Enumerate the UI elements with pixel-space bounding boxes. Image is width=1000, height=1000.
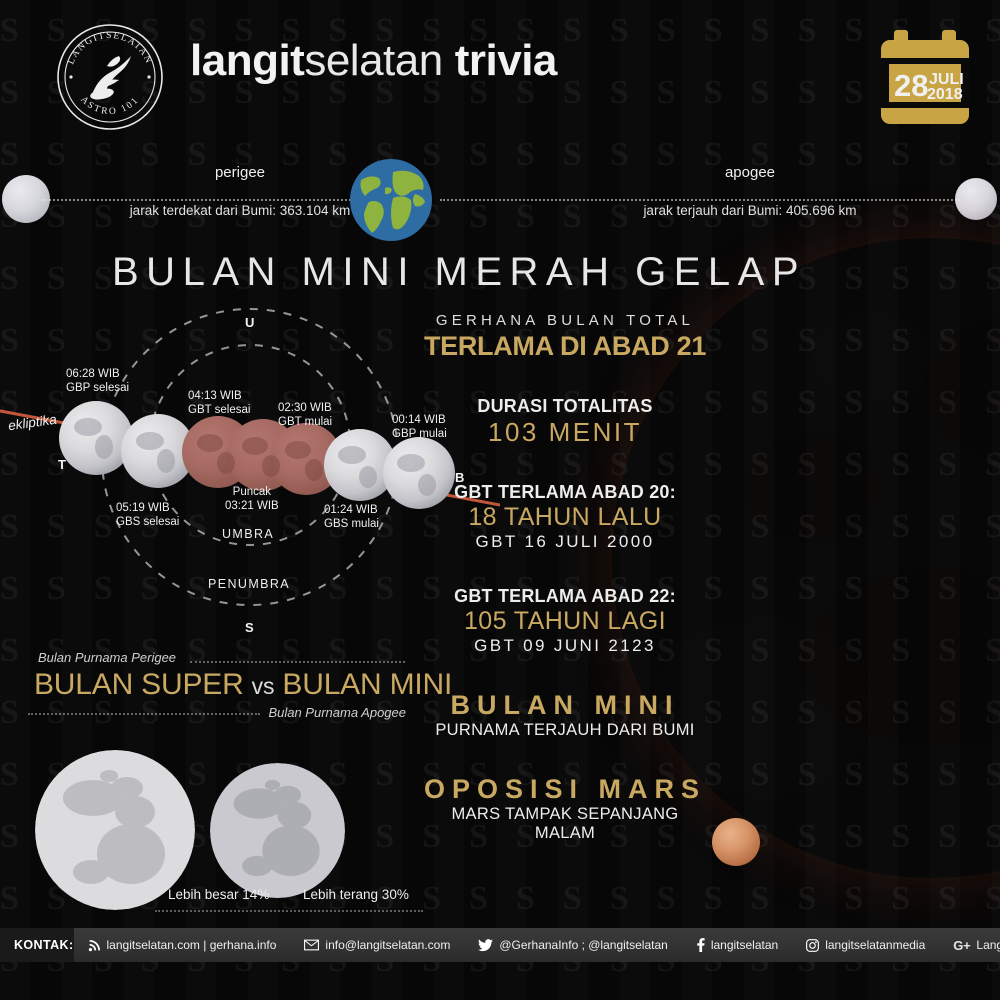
phase-3-time: 04:13 WIB — [188, 389, 250, 403]
footer-item-email[interactable]: info@langitselatan.com — [290, 938, 464, 952]
mars-title: OPOSISI MARS — [420, 774, 710, 805]
phase-4-event: GBT mulai — [278, 415, 332, 429]
svg-text:ASTRO 101: ASTRO 101 — [78, 95, 141, 117]
page-title: BULAN MINI MERAH GELAP — [112, 250, 806, 295]
phase-5-event: GBS mulai — [324, 517, 379, 531]
phase-callout-1: 06:28 WIB GBP selesai — [66, 367, 129, 395]
footer-googleplus-text: LangitselatanMedia — [976, 938, 1000, 952]
century22-value: 105 TAHUN LAGI — [420, 607, 710, 636]
minimoon-sub: PURNAMA TERJAUH DARI BUMI — [420, 721, 710, 740]
footer-email-text: info@langitselatan.com — [325, 938, 450, 952]
phase-5-time: 01:24 WIB — [324, 503, 379, 517]
mars-planet-icon — [712, 818, 760, 866]
century20-label: GBT TERLAMA ABAD 20: — [420, 482, 710, 503]
duration-block: DURASI TOTALITAS 103 MENIT — [420, 396, 710, 448]
supermoon-icon — [35, 750, 195, 910]
googleplus-icon: G+ — [953, 938, 970, 953]
apogee-detail: jarak terjauh dari Bumi: 405.696 km — [560, 203, 940, 218]
umbra-label: UMBRA — [222, 527, 274, 541]
infographic-page: SSSSSSSSSSSSSSSSSSSSSSSSSSSSSSSSSSSSSSSS… — [0, 0, 1000, 1000]
cardinal-east: T — [58, 457, 66, 472]
phase-callout-4: 02:30 WIB GBT mulai — [278, 401, 332, 429]
comparison-title-right: BULAN MINI — [282, 668, 452, 701]
cardinal-north: U — [245, 315, 254, 330]
footer-item-facebook[interactable]: langitselatan — [682, 938, 792, 952]
apogee-title: apogee — [560, 164, 940, 181]
penumbra-label: PENUMBRA — [208, 577, 290, 591]
phase-1-event: GBP selesai — [66, 381, 129, 395]
minimoon-block: BULAN MINI PURNAMA TERJAUH DARI BUMI — [420, 690, 710, 740]
century20-value: 18 TAHUN LALU — [420, 503, 710, 532]
comparison-top-label: Bulan Purnama Perigee — [38, 650, 176, 665]
comparison-title-vs: vs — [252, 673, 275, 699]
peak-callout: Puncak 03:21 WIB — [225, 485, 279, 513]
phase-callout-5: 01:24 WIB GBS mulai — [324, 503, 379, 531]
phase-1-time: 06:28 WIB — [66, 367, 129, 381]
caption-size: Lebih besar 14% — [168, 887, 269, 902]
comparison-caption-dotted-line — [155, 910, 423, 912]
facebook-icon — [696, 938, 705, 952]
apogee-label: apogee jarak terjauh dari Bumi: 405.696 … — [560, 164, 940, 218]
footer-item-instagram[interactable]: langitselatanmedia — [792, 938, 939, 952]
facts-headline: TERLAMA DI ABAD 21 — [420, 331, 710, 362]
phase-2-time: 05:19 WIB — [116, 501, 179, 515]
perigee-title: perigee — [80, 164, 400, 181]
perigee-detail: jarak terdekat dari Bumi: 363.104 km — [80, 203, 400, 218]
footer-kontak-label: KONTAK: — [0, 928, 74, 962]
minimoon-title: BULAN MINI — [420, 690, 710, 721]
phase-4-time: 02:30 WIB — [278, 401, 332, 415]
footer-facebook-text: langitselatan — [711, 938, 778, 952]
instagram-icon — [806, 939, 819, 952]
cardinal-south: S — [245, 620, 254, 635]
comparison-title: BULAN SUPER vs BULAN MINI — [34, 668, 452, 702]
eclipse-moon-1 — [59, 401, 133, 475]
comparison-bottom-dotted-line — [28, 713, 260, 715]
phase-callout-3: 04:13 WIB GBT selesai — [188, 389, 250, 417]
perigee-label: perigee jarak terdekat dari Bumi: 363.10… — [80, 164, 400, 218]
phase-callout-2: 05:19 WIB GBS selesai — [116, 501, 179, 529]
phase-2-event: GBS selesai — [116, 515, 179, 529]
comparison-top-dotted-line — [190, 661, 405, 663]
duration-value: 103 MENIT — [420, 417, 710, 448]
caption-brightness: Lebih terang 30% — [303, 887, 409, 902]
footer-item-googleplus[interactable]: G+ LangitselatanMedia — [939, 938, 1000, 953]
peak-time: 03:21 WIB — [225, 499, 279, 513]
footer-twitter-text: @GerhanaInfo ; @langitselatan — [499, 938, 667, 952]
footer-item-twitter[interactable]: @GerhanaInfo ; @langitselatan — [464, 938, 681, 952]
rss-icon — [88, 939, 101, 952]
facts-column: GERHANA BULAN TOTAL TERLAMA DI ABAD 21 D… — [420, 312, 710, 843]
apogee-moon-icon — [955, 178, 997, 220]
minimoon-icon — [210, 763, 345, 898]
footer-contact-bar: KONTAK: langitselatan.com | gerhana.info… — [0, 928, 1000, 962]
comparison-title-left: BULAN SUPER — [34, 668, 244, 701]
century22-date: GBT 09 JUNI 2123 — [420, 636, 710, 656]
century20-block: GBT TERLAMA ABAD 20: 18 TAHUN LALU GBT 1… — [420, 482, 710, 552]
mars-sub: MARS TAMPAK SEPANJANG MALAM — [420, 805, 710, 843]
duration-label: DURASI TOTALITAS — [420, 396, 710, 417]
envelope-icon — [304, 939, 319, 951]
footer-item-website[interactable]: langitselatan.com | gerhana.info — [74, 938, 291, 952]
century22-label: GBT TERLAMA ABAD 22: — [420, 586, 710, 607]
twitter-icon — [478, 939, 493, 952]
footer-instagram-text: langitselatanmedia — [825, 938, 925, 952]
facts-kicker: GERHANA BULAN TOTAL — [420, 312, 710, 329]
comparison-bottom-label: Bulan Purnama Apogee — [268, 705, 406, 720]
peak-label: Puncak — [225, 485, 279, 499]
century22-block: GBT TERLAMA ABAD 22: 105 TAHUN LAGI GBT … — [420, 586, 710, 656]
mars-block: OPOSISI MARS MARS TAMPAK SEPANJANG MALAM — [420, 774, 710, 843]
orbit-row: perigee jarak terdekat dari Bumi: 363.10… — [0, 0, 1000, 90]
century20-date: GBT 16 JULI 2000 — [420, 532, 710, 552]
phase-3-event: GBT selesai — [188, 403, 250, 417]
footer-website-text: langitselatan.com | gerhana.info — [107, 938, 277, 952]
